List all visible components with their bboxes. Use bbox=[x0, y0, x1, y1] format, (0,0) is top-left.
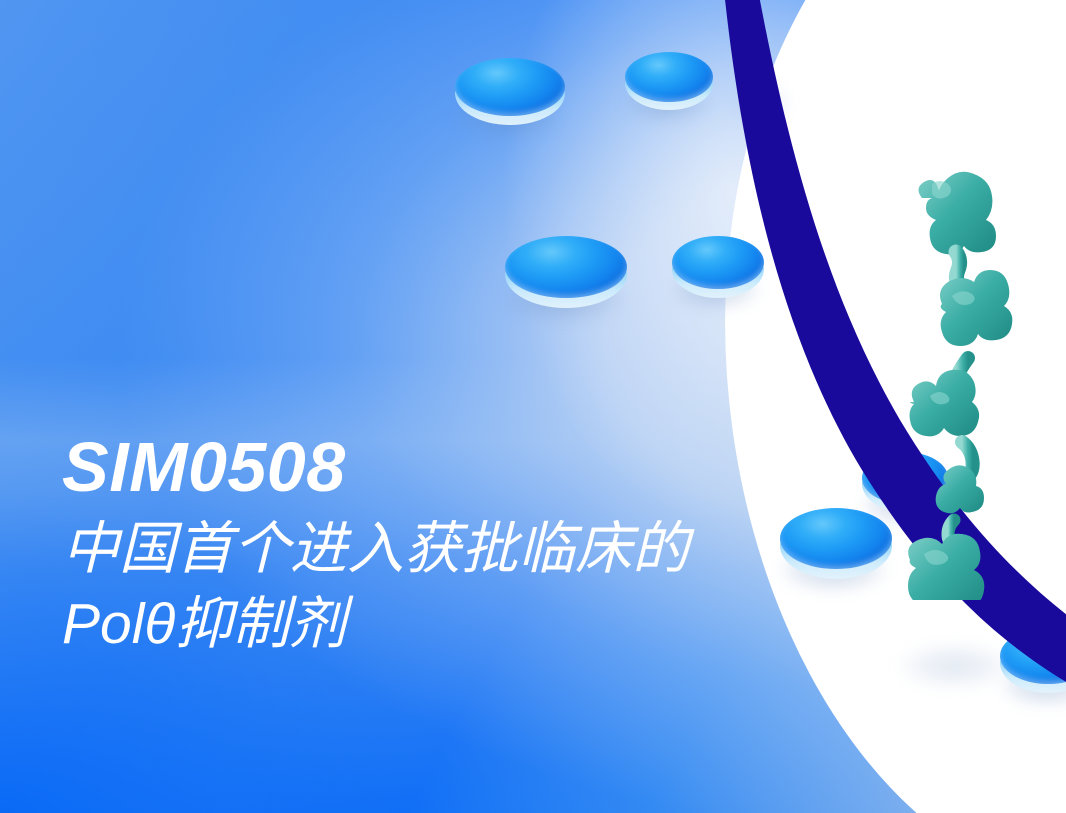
tablet-7 bbox=[1000, 628, 1066, 704]
tablet-shadow-ghost-1 bbox=[726, 78, 798, 128]
protein-lobe-1 bbox=[918, 172, 996, 255]
tablet-top bbox=[455, 58, 565, 116]
tablet-top bbox=[672, 236, 764, 289]
protein-lobe-2 bbox=[940, 270, 1012, 346]
tablet-2 bbox=[625, 52, 713, 120]
tablet-top bbox=[505, 236, 627, 298]
subtitle-line-2: Polθ抑制剂 bbox=[62, 587, 689, 662]
tablet-3 bbox=[505, 236, 627, 320]
title-block: SIM0508 中国首个进入获批临床的 Polθ抑制剂 bbox=[62, 432, 689, 662]
tablet-4 bbox=[672, 236, 764, 308]
tablet-6 bbox=[780, 508, 892, 590]
protein-lobe-5 bbox=[908, 534, 984, 600]
tablet-1 bbox=[455, 58, 565, 136]
page-title: SIM0508 bbox=[62, 432, 689, 502]
tablet-top bbox=[625, 52, 713, 102]
subtitle-line-1: 中国首个进入获批临床的 bbox=[62, 512, 689, 587]
tablet-top bbox=[780, 508, 892, 569]
protein-ribbon-structure bbox=[880, 140, 1066, 600]
poster-canvas: SIM0508 中国首个进入获批临床的 Polθ抑制剂 bbox=[0, 0, 1066, 813]
